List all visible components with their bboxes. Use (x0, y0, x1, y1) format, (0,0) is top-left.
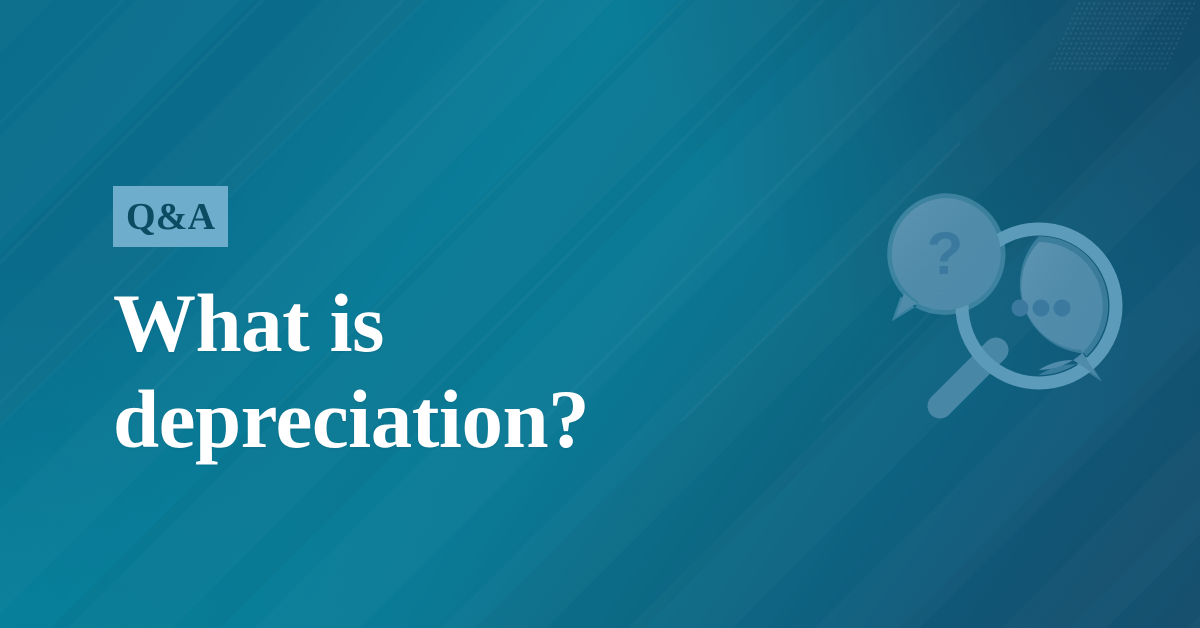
question-speech-bubble: ? (887, 193, 1005, 321)
page-title: What is depreciation? (113, 275, 753, 467)
front-bubble-glyph (1012, 300, 1071, 317)
qa-card: Q&A What is depreciation? (0, 0, 1200, 628)
qa-illustration: ? (880, 178, 1130, 450)
card-content: Q&A What is depreciation? (113, 186, 753, 467)
back-bubble-glyph: ? (927, 220, 964, 287)
qa-badge: Q&A (113, 186, 228, 247)
